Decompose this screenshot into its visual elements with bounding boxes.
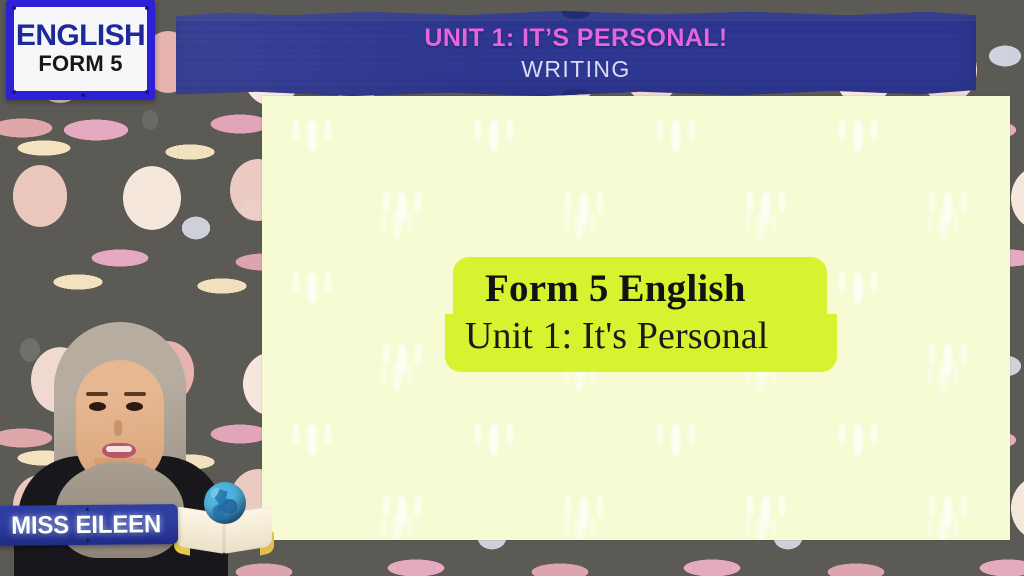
slide-heading-highlight: Form 5 English — [453, 257, 827, 314]
title-banner: UNIT 1: IT’S PERSONAL! WRITING — [176, 10, 976, 97]
globe-icon — [204, 482, 246, 524]
presenter-name-plate: MISS EILEEN — [0, 504, 178, 546]
presenter-eye-right — [126, 402, 143, 411]
slide-subheading-highlight: Unit 1: It's Personal — [445, 314, 837, 372]
unit-title: UNIT 1: IT’S PERSONAL! — [424, 25, 727, 53]
presenter-nose — [114, 420, 122, 436]
slide-subheading: Unit 1: It's Personal — [465, 316, 768, 358]
presenter-teeth — [106, 446, 132, 452]
subject-badge: ENGLISH FORM 5 — [6, 0, 155, 100]
subject-badge-form: FORM 5 — [38, 52, 122, 76]
lesson-skill-subtitle: WRITING — [521, 55, 630, 84]
slide-screenshot: © Copyright Protected UNIT 1: IT’S PERSO… — [0, 0, 1024, 576]
badge-screw-icon — [12, 90, 16, 94]
banner-text-group: UNIT 1: IT’S PERSONAL! WRITING — [176, 10, 976, 97]
presenter-name: MISS EILEEN — [11, 510, 161, 541]
book-globe-icon — [176, 482, 272, 556]
presenter-eyebrow-left — [86, 392, 108, 396]
badge-screw-icon — [12, 6, 16, 10]
slide-heading: Form 5 English — [485, 269, 746, 310]
presenter-eye-left — [89, 402, 106, 411]
badge-screw-icon — [145, 90, 149, 94]
subject-badge-subject: ENGLISH — [16, 21, 145, 51]
slide-title-block: Form 5 English Unit 1: It's Personal — [445, 257, 837, 372]
badge-screw-icon — [145, 6, 149, 10]
presenter-eyebrow-right — [124, 392, 146, 396]
subject-badge-card: ENGLISH FORM 5 — [14, 7, 147, 91]
badge-screw-icon — [81, 93, 85, 97]
slide-content-area: Form 5 English Unit 1: It's Personal — [262, 96, 1010, 540]
